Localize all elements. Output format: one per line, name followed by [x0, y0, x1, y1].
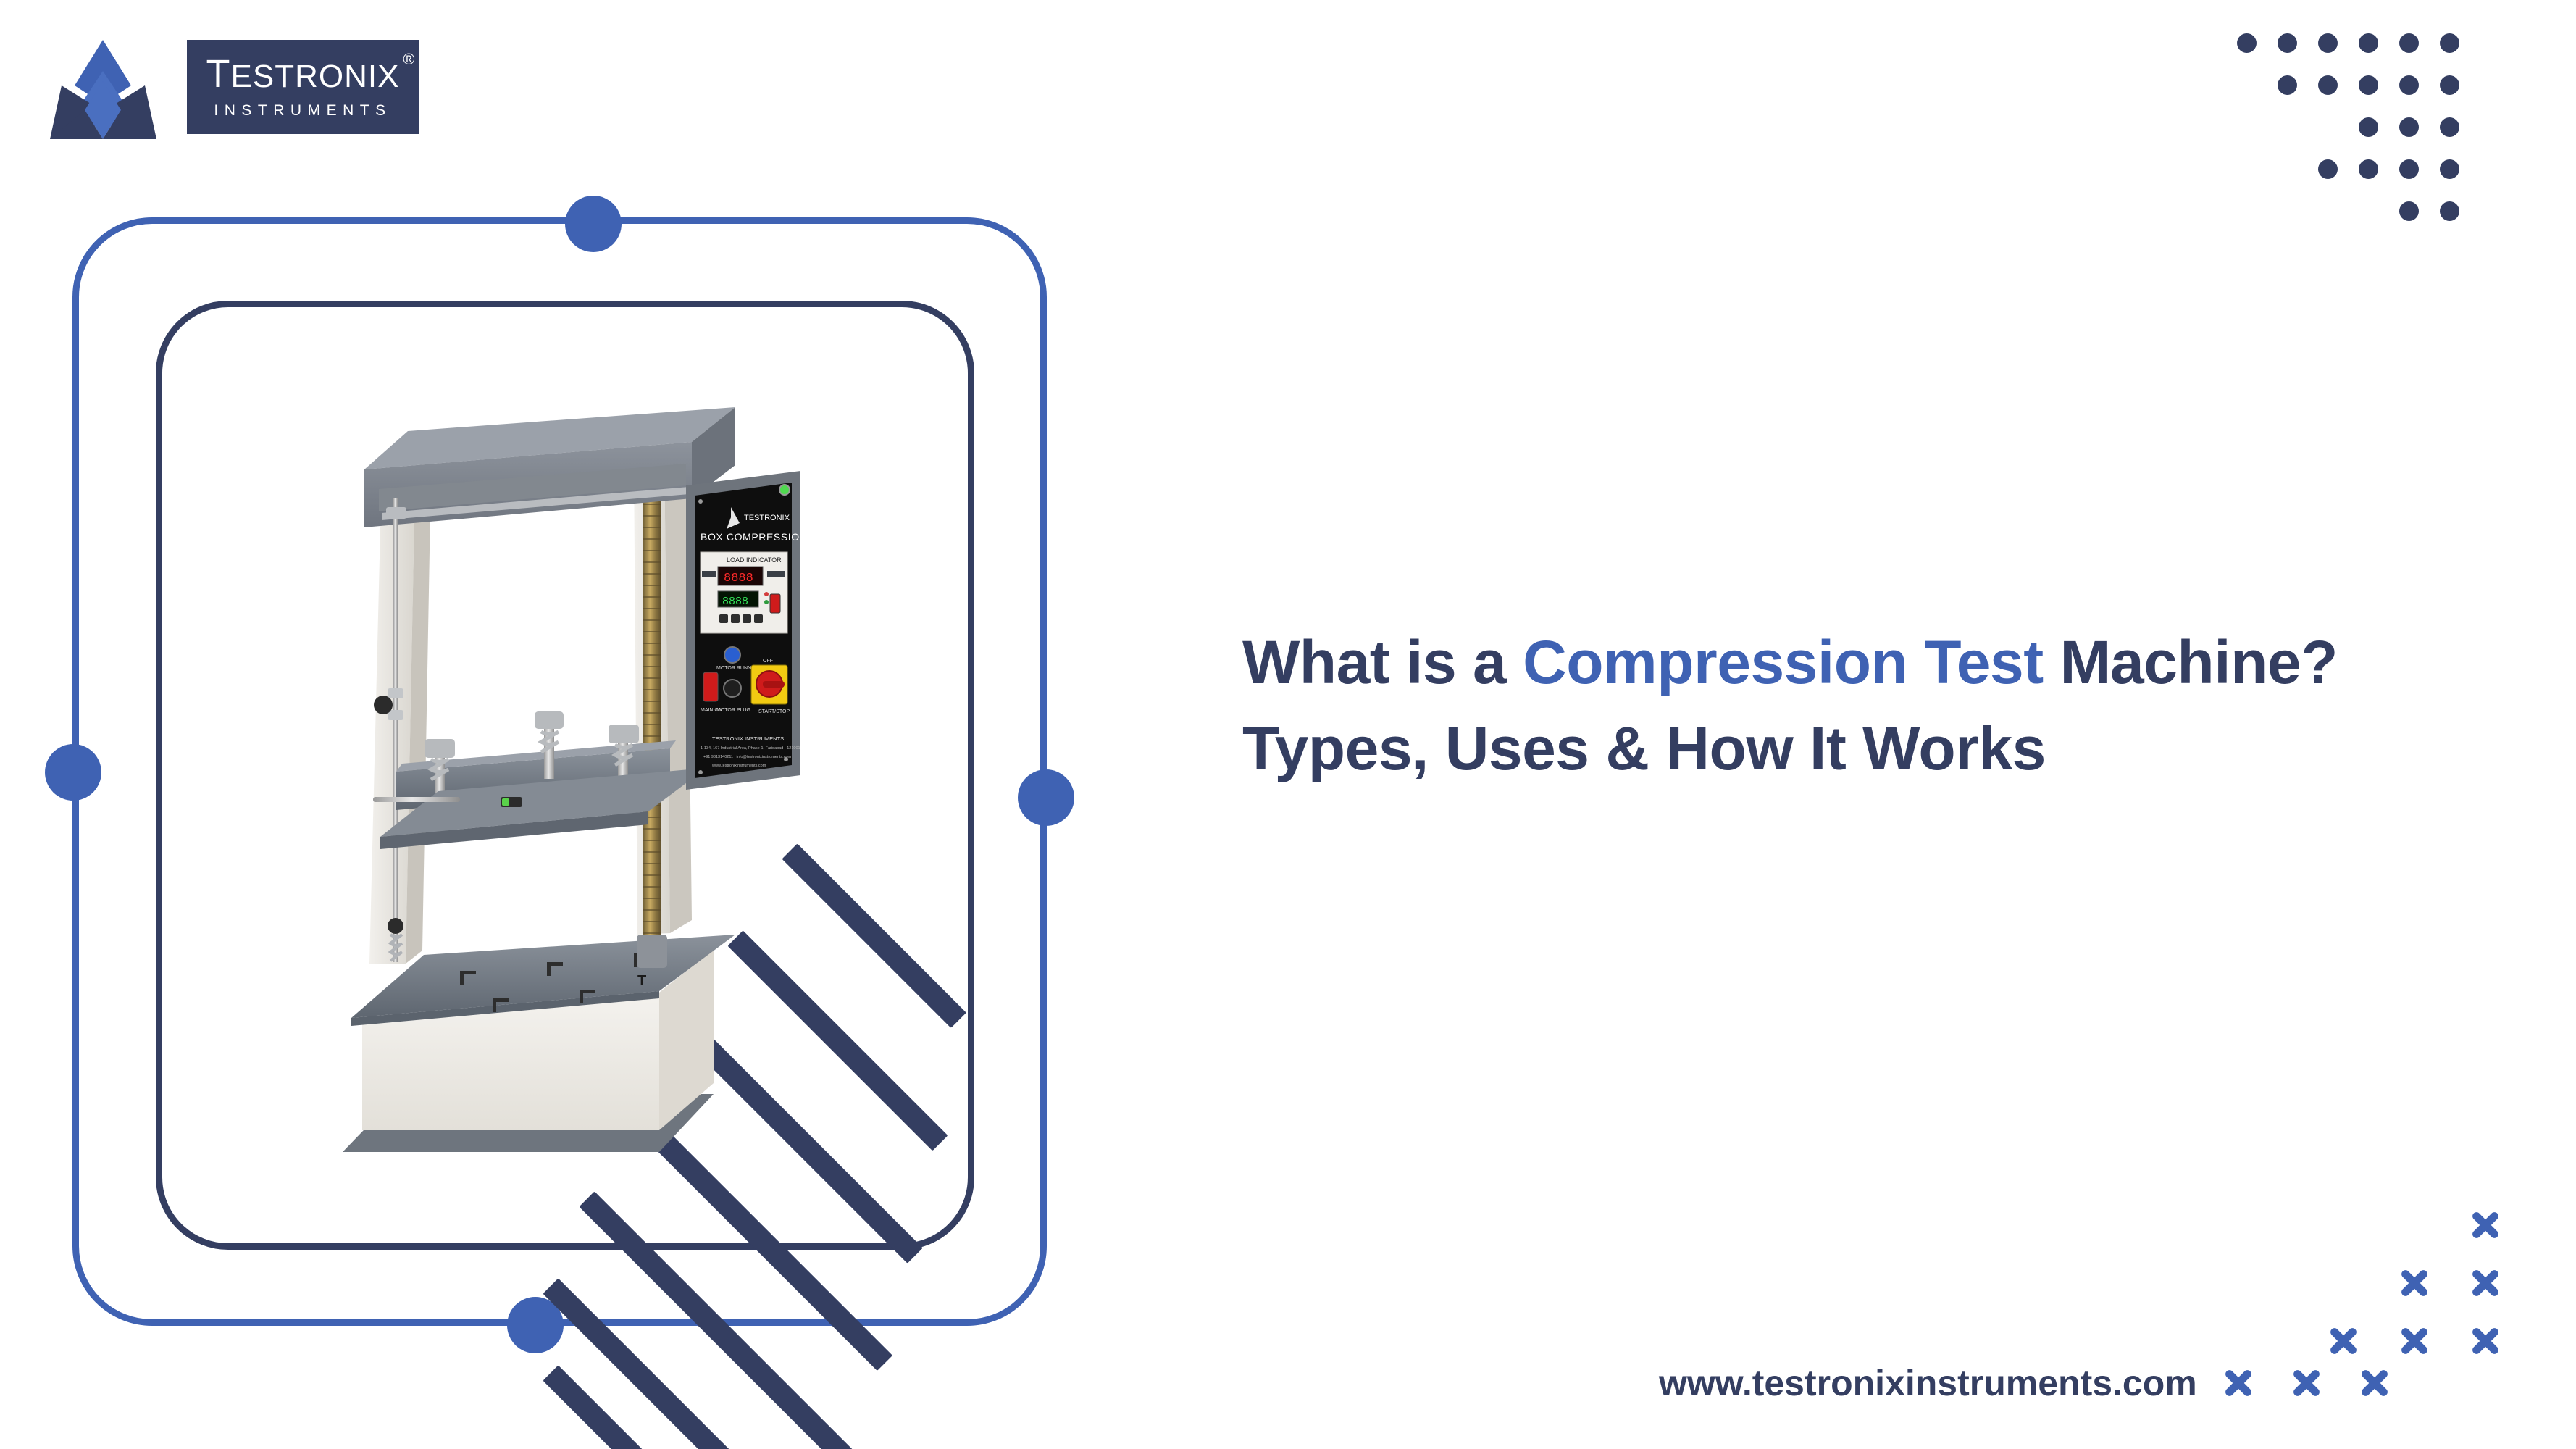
dot-icon — [2359, 159, 2378, 179]
dot-grid-decoration — [2237, 33, 2541, 272]
testronix-triangle-logo-icon — [40, 29, 167, 145]
brand-subtitle: INSTRUMENTS — [214, 102, 391, 120]
svg-text:1-134, 167 Industrial Area, Ph: 1-134, 167 Industrial Area, Phase-1, Far… — [701, 746, 800, 751]
footer-bar: www.testronixinstruments.com — [1659, 1362, 2391, 1404]
website-url[interactable]: www.testronixinstruments.com — [1659, 1362, 2197, 1404]
dot-icon — [2359, 33, 2378, 53]
dot-icon — [2237, 33, 2257, 53]
svg-text:8888: 8888 — [724, 572, 753, 585]
dot-icon — [2440, 117, 2459, 137]
brand-name-rest: ESTRONIX — [231, 59, 400, 94]
svg-text:MOTOR PLUG: MOTOR PLUG — [716, 708, 750, 713]
frame-node-left-icon — [45, 744, 101, 801]
dot-icon — [2399, 33, 2419, 53]
dot-icon — [2318, 159, 2338, 179]
headline-part-2: Machine? — [2044, 628, 2338, 696]
dot-icon — [2440, 33, 2459, 53]
dot-icon — [2318, 75, 2338, 95]
svg-text:8888: 8888 — [722, 596, 748, 608]
dot-icon — [2278, 33, 2297, 53]
x-mark-icon — [2290, 1366, 2323, 1400]
headline-line-1: What is a Compression Test Machine? — [1242, 619, 2532, 706]
dot-icon — [2278, 75, 2297, 95]
dot-icon — [2399, 75, 2419, 95]
page-title: What is a Compression Test Machine? Type… — [1242, 619, 2532, 793]
dot-icon — [2399, 117, 2419, 137]
compression-test-machine-image: T — [330, 362, 800, 1232]
dot-icon — [2359, 75, 2378, 95]
dot-icon — [2318, 33, 2338, 53]
svg-text:OFF: OFF — [763, 659, 773, 664]
svg-text:START/STOP: START/STOP — [758, 709, 790, 714]
svg-text:TESTRONIX: TESTRONIX — [744, 514, 790, 522]
x-mark-icon — [2469, 1324, 2502, 1358]
registered-trademark-icon: ® — [403, 51, 415, 67]
headline-part-1: What is a — [1242, 628, 1523, 696]
brand-wordmark: TESTRONIX® INSTRUMENTS — [187, 40, 419, 134]
machine-base-mark: T — [637, 973, 646, 989]
frame-node-top-icon — [565, 196, 622, 252]
poster-canvas: TESTRONIX® INSTRUMENTS — [0, 0, 2576, 1449]
svg-text:BOX COMPRESSION TESTER: BOX COMPRESSION TESTER — [701, 531, 800, 543]
brand-name: TESTRONIX® — [206, 54, 400, 93]
svg-text:+91 9313140211 | info@testro: +91 9313140211 | info@testronixinstrumen… — [703, 755, 792, 759]
x-mark-icon — [2398, 1266, 2431, 1300]
dot-icon — [2359, 117, 2378, 137]
x-mark-icon — [2469, 1208, 2502, 1242]
x-mark-icon — [2222, 1366, 2255, 1400]
machine-control-panel: TESTRONIX BOX COMPRESSION TESTER LOAD IN… — [686, 471, 800, 790]
brand-logo[interactable]: TESTRONIX® INSTRUMENTS — [40, 29, 419, 145]
brand-name-main: T — [206, 52, 231, 96]
dot-icon — [2440, 75, 2459, 95]
dot-icon — [2399, 159, 2419, 179]
x-mark-icon — [2327, 1324, 2360, 1358]
svg-text:TESTRONIX INSTRUMENTS: TESTRONIX INSTRUMENTS — [712, 735, 784, 742]
x-grid-decoration — [2327, 1208, 2544, 1397]
dot-icon — [2440, 159, 2459, 179]
headline-line-2: Types, Uses & How It Works — [1242, 706, 2532, 792]
svg-text:www.testronixinstruments.com: www.testronixinstruments.com — [711, 764, 766, 768]
dot-icon — [2399, 201, 2419, 221]
dot-icon — [2440, 201, 2459, 221]
x-mark-icon — [2398, 1324, 2431, 1358]
x-mark-icon — [2469, 1266, 2502, 1300]
svg-text:LOAD INDICATOR: LOAD INDICATOR — [727, 556, 782, 564]
headline-accent: Compression Test — [1523, 628, 2044, 696]
